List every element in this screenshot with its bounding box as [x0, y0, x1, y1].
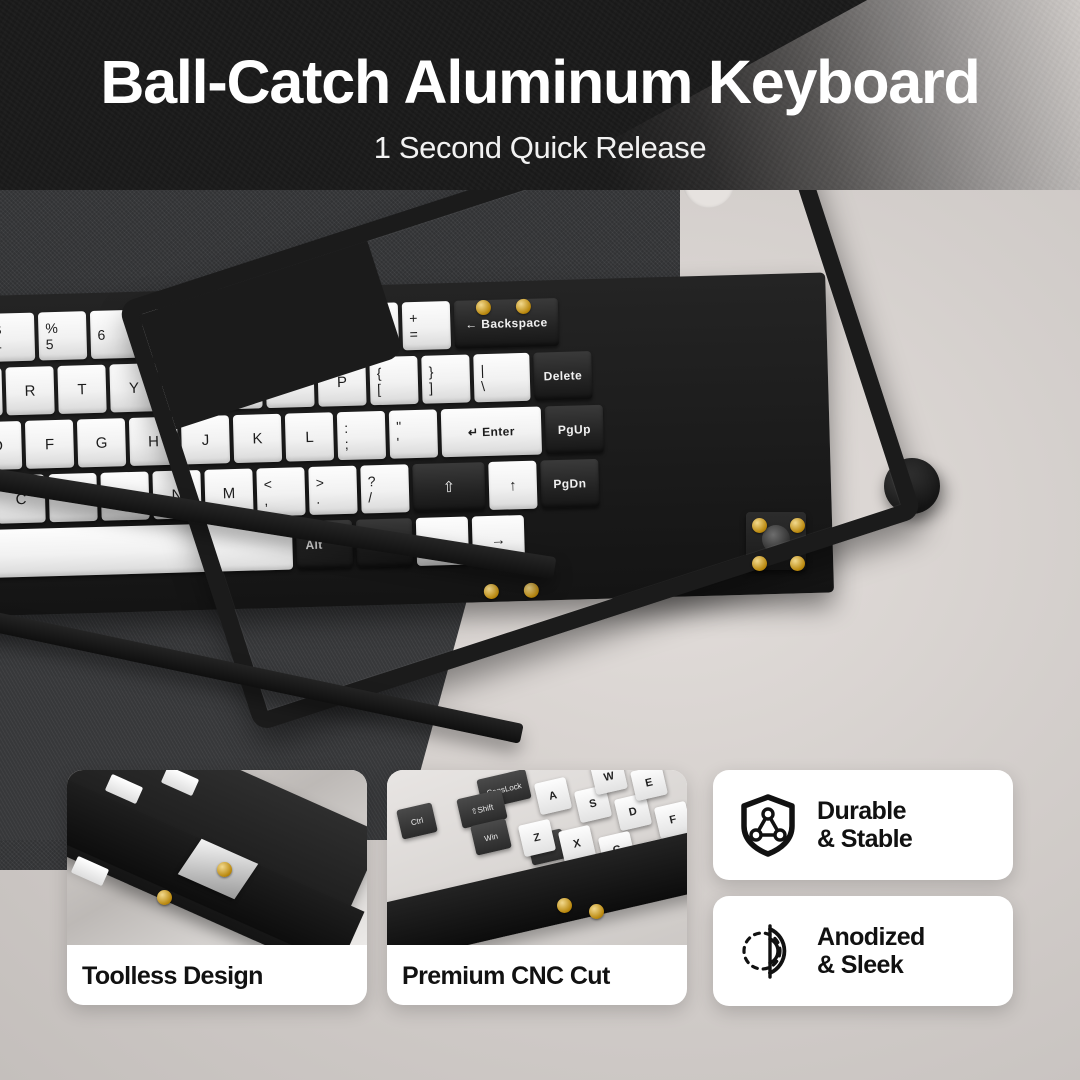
key-legend-bottom: 0: [305, 329, 313, 345]
key-legend-bottom: -: [357, 327, 362, 343]
key-k[interactable]: K: [233, 414, 282, 463]
key-o[interactable]: O: [265, 359, 314, 408]
key-pgdn[interactable]: PgDn: [540, 459, 599, 509]
badge-anodized-sleek[interactable]: Anodized & Sleek: [713, 896, 1013, 1006]
ball-catch-detent: [752, 518, 767, 533]
key-blank[interactable]: >.: [308, 466, 357, 515]
key-legend-top: <: [264, 476, 273, 492]
key-6[interactable]: 6: [90, 310, 139, 359]
key-legend-bottom: \: [481, 378, 485, 394]
key-blank[interactable]: +=: [402, 301, 451, 350]
feature-card-cnc[interactable]: CapsLock ⇧Shift Ctrl Win Alt A S D F Z X…: [387, 770, 687, 1005]
key-legend-bottom: 8: [201, 332, 209, 348]
key-4[interactable]: $4: [0, 313, 35, 362]
key-y[interactable]: Y: [109, 363, 158, 412]
key-blank[interactable]: |\: [473, 353, 530, 403]
key-p[interactable]: P: [317, 357, 366, 406]
key-t[interactable]: T: [57, 365, 106, 414]
key-e[interactable]: E: [0, 368, 3, 417]
key-legend-top: %: [45, 320, 58, 336]
key-8[interactable]: *8: [194, 307, 243, 356]
keyboard-plate: @2#3$4%567*8(9)0—-+=← BackspaceWERTYUIOP…: [0, 283, 828, 609]
key-legend-bottom: /: [368, 489, 372, 505]
key-r[interactable]: R: [5, 366, 54, 415]
badge-label: Durable & Stable: [817, 797, 912, 853]
key-legend-top: |: [480, 362, 484, 378]
ball-catch-detent: [790, 556, 805, 571]
ball-catch-detent: [790, 518, 805, 533]
badge-line-2: & Stable: [817, 825, 912, 853]
key-blank[interactable]: }]: [421, 354, 470, 403]
key-legend-top: ?: [368, 473, 376, 489]
key-legend-bottom: 7: [149, 325, 157, 341]
keycap-e: E: [630, 770, 668, 801]
key-legend-bottom: [: [377, 381, 381, 397]
keycap-ctrl: Ctrl: [396, 802, 438, 839]
key-legend-bottom: =: [409, 326, 418, 342]
key-d[interactable]: D: [0, 421, 22, 470]
key-0[interactable]: )0: [298, 304, 347, 353]
page-subtitle: 1 Second Quick Release: [0, 132, 1080, 163]
badge-line-1: Anodized: [817, 923, 925, 951]
ball-catch-detent: [752, 556, 767, 571]
key-j[interactable]: J: [181, 415, 230, 464]
key-legend-bottom: ;: [344, 436, 348, 452]
key-legend-top: >: [316, 474, 325, 490]
badge-line-2: & Sleek: [817, 951, 903, 979]
key-legend-top: (: [253, 314, 258, 330]
key-legend-bottom: 4: [0, 338, 2, 354]
key-f[interactable]: F: [25, 420, 74, 469]
key-blank[interactable]: <,: [256, 467, 305, 516]
key-blank[interactable]: :;: [337, 411, 386, 460]
ball-catch-detent: [217, 862, 232, 877]
key-5[interactable]: %5: [38, 311, 87, 360]
key-delete[interactable]: Delete: [533, 351, 592, 401]
key-g[interactable]: G: [77, 418, 126, 467]
encoder-shaft: [762, 525, 790, 553]
toolless-photo: [67, 770, 367, 945]
key-legend-bottom: ': [396, 434, 399, 450]
page-title: Ball-Catch Aluminum Keyboard: [0, 52, 1080, 113]
key-blank[interactable]: ⇧: [412, 462, 485, 512]
keyboard-case: @2#3$4%567*8(9)0—-+=← BackspaceWERTYUIOP…: [0, 273, 834, 619]
keyboard-assembly: @2#3$4%567*8(9)0—-+=← BackspaceWERTYUIOP…: [0, 271, 885, 639]
anodized-finish-icon: [739, 919, 797, 983]
detached-knob-cap: [884, 458, 940, 514]
badge-line-1: Durable: [817, 797, 906, 825]
key-legend-top: $: [0, 321, 1, 337]
ball-catch-detent: [589, 904, 604, 919]
key-legend-bottom: 5: [46, 336, 54, 352]
feature-caption: Toolless Design: [82, 962, 263, 991]
badge-label: Anodized & Sleek: [817, 923, 925, 979]
ball-catch-detent: [557, 898, 572, 913]
key-blank[interactable]: ?/: [360, 464, 409, 513]
keycap-w: W: [590, 770, 628, 795]
feature-card-row: Toolless Design CapsLock ⇧Shift Ctrl Win…: [0, 770, 1080, 1015]
shield-icon: [739, 793, 797, 857]
badge-durable-stable[interactable]: Durable & Stable: [713, 770, 1013, 880]
key-blank[interactable]: {[: [369, 356, 418, 405]
key-blank[interactable]: ↑: [488, 461, 537, 510]
key-legend-bottom: ]: [429, 379, 433, 395]
key-enter[interactable]: ↵ Enter: [441, 406, 542, 457]
key-legend-top: {: [376, 365, 381, 381]
key-l[interactable]: L: [285, 412, 334, 461]
key-legend-bottom: .: [316, 491, 320, 507]
feature-card-toolless[interactable]: Toolless Design: [67, 770, 367, 1005]
key-legend-top: :: [344, 420, 348, 436]
key-h[interactable]: H: [129, 417, 178, 466]
keycap-win: Win: [470, 818, 512, 855]
feature-caption: Premium CNC Cut: [402, 962, 610, 991]
key-legend-top: *: [201, 316, 207, 332]
keycap-a: A: [534, 777, 572, 815]
header-banner: Ball-Catch Aluminum Keyboard 1 Second Qu…: [0, 0, 1080, 190]
key-legend-bottom: 6: [97, 327, 105, 343]
cnc-photo: CapsLock ⇧Shift Ctrl Win Alt A S D F Z X…: [387, 770, 687, 945]
ball-catch-detent: [157, 890, 172, 905]
key-legend-top: ": [396, 418, 401, 434]
key-u[interactable]: U: [161, 362, 210, 411]
key-backspace[interactable]: ← Backspace: [454, 298, 559, 349]
key-legend-top: ): [305, 313, 310, 329]
key-legend-top: +: [409, 310, 418, 326]
key-blank[interactable]: —-: [350, 302, 399, 351]
key-9[interactable]: (9: [246, 305, 295, 354]
key-legend-bottom: 9: [253, 330, 261, 346]
key-blank[interactable]: "': [389, 409, 438, 458]
key-legend-top: }: [428, 363, 433, 379]
key-pgup[interactable]: PgUp: [545, 405, 604, 455]
key-legend-top: —: [357, 311, 371, 327]
key-7[interactable]: 7: [142, 308, 191, 357]
key-legend-bottom: ,: [264, 492, 268, 508]
key-i[interactable]: I: [213, 360, 262, 409]
